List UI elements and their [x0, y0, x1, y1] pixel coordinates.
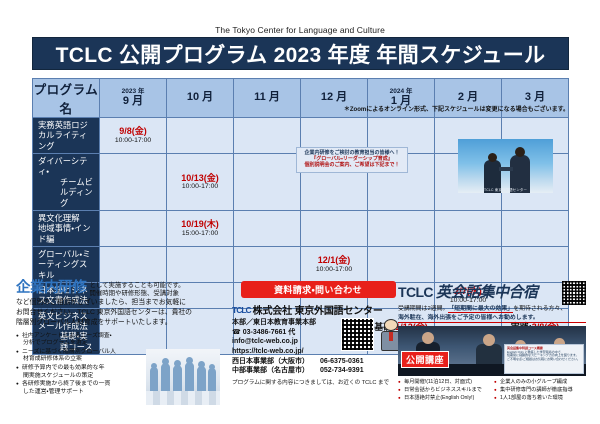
list-item: 日本語絶対禁止(English Only!): [398, 395, 490, 403]
camp-lead-1b: 「短期間に最大の効果」: [448, 306, 513, 313]
list-item: 企業人のみの小グループ編成: [494, 379, 586, 387]
callout-line-1: 企業内研修をご検討の教育担当の皆様へ！: [299, 150, 405, 156]
camp-features: 毎月開催!(11泊12日、対面式)日常会話からビジネススキルまで日本語絶対禁止(…: [398, 379, 586, 402]
session-date-value: 12/1(金): [318, 255, 351, 265]
table-row: 異文化理解 地域事情・インド編10/19(木)15:00-17:00: [33, 210, 569, 246]
schedule-cell: [368, 210, 435, 246]
photo-caption: TCLC 東京外国語センター: [460, 187, 551, 192]
corporate-heading: 企業内研修 として実施することも可能です。 開催時期や研修形態、受講対象: [16, 281, 222, 297]
session-date: 10/19(木): [167, 219, 233, 229]
qr-code-contact[interactable]: [341, 318, 374, 351]
corporate-training-panel: 企業内研修 として実施することも可能です。 開催時期や研修形態、受講対象 など個…: [16, 281, 222, 407]
table-row: グローバル・ミーティングスキル12/1(金)10:00-17:00: [33, 246, 569, 282]
schedule-cell: [234, 210, 301, 246]
main-title-bar: TCLC 公開プログラム 2023 年度 年間スケジュール: [32, 37, 569, 70]
team-head-1: [151, 363, 157, 369]
schedule-cell: [435, 210, 502, 246]
bullet-sub: 間実施スケジュールの策定: [22, 373, 140, 380]
camp-bullets-right: 企業人のみの小グループ編成集中研修専門の講師が徹底指導1人1部屋の落ち着いた環境: [494, 379, 586, 402]
list-item: 毎月開催!(11泊12日、対面式): [398, 379, 490, 387]
bullet-sub: 分析でプログラムを選定: [22, 340, 140, 347]
program-name-line-1: グローバル・ミーティングスキル: [38, 249, 91, 280]
schedule-cell: [167, 246, 234, 282]
session-date: 9/8(金): [100, 126, 166, 136]
session-date-value: 9/8(金): [119, 126, 147, 136]
month-label-11: 11 月: [234, 92, 300, 104]
program-name-cell: 実務英語ロジカルライティング: [33, 118, 100, 154]
camp-lead-1a: 受講期間は2週間。: [398, 306, 448, 312]
corporate-lead: として実施することも可能です。 開催時期や研修形態、受講対象: [90, 281, 185, 297]
bullet-main: 研修予算内での最も効果的な年: [22, 365, 104, 371]
schedule-cell: [234, 154, 301, 211]
team-figure-1: [150, 367, 158, 393]
schedule-cell: [301, 210, 368, 246]
contact-panel: 資料請求・問い合わせ TCLC 株式会社 東京外国語センター 本部／東日本教育事…: [232, 281, 404, 407]
branch-west-row: 西日本事業部（大阪市） 06-6375-0361: [232, 357, 404, 367]
session-time: 15:00-17:00: [167, 230, 233, 238]
team-head-3: [174, 360, 181, 367]
branch-central-phone: 052-734-9391: [320, 366, 364, 376]
list-item: 社内アンケートによるニーズ調査・分析でプログラムを選定: [16, 333, 140, 348]
contact-details: 本部／東日本教育事業本部 03-3486-7661 代 info@tclc-we…: [232, 318, 404, 376]
callout-line-3: 個別説明会のご案内、ご希望は下記まで！: [299, 162, 405, 168]
organization-subtitle: The Tokyo Center for Language and Cultur…: [0, 25, 600, 35]
team-figure-2: [161, 363, 170, 393]
session-date: 10/13(金): [167, 173, 233, 183]
flyer-page: The Tokyo Center for Language and Cultur…: [0, 0, 600, 424]
team-head-5: [198, 361, 205, 368]
list-item: 集中研修専門の講師が徹底指導: [494, 387, 586, 395]
schedule-cell: [502, 246, 569, 282]
schedule-cell: [435, 246, 502, 282]
session-time: 10:00-17:00: [167, 183, 233, 191]
schedule-cell: [368, 246, 435, 282]
inquiry-banner-label: 資料請求・問い合わせ: [274, 283, 362, 296]
camp-panel: TCLC 英会話集中合宿 受講期間は2週間。「短期間に最大の効果」を期待される方…: [398, 281, 586, 407]
schedule-cell: [100, 246, 167, 282]
month-label-10: 10 月: [167, 92, 233, 104]
schedule-cell: 12/1(金)10:00-17:00: [301, 246, 368, 282]
list-item: 1人1部屋の落ち着いた環境: [494, 395, 586, 403]
corporate-lead-line-2: 開催時期や研修形態、受講対象: [90, 290, 185, 298]
team-photo: [146, 349, 220, 405]
camp-lead: 受講期間は2週間。「短期間に最大の効果」を期待される方々、 海外駐在、海外出張を…: [398, 305, 586, 323]
schedule-cell: [167, 118, 234, 154]
company-name: 株式会社 東京外国語センター: [253, 302, 383, 317]
team-figure-4: [185, 362, 194, 393]
corporate-bullet-list: 社内アンケートによるニーズ調査・分析でプログラムを選定ニーズに基づく階層別グロー…: [16, 333, 140, 397]
schedule-cell: 9/8(金)10:00-17:00: [100, 118, 167, 154]
program-name-line-1: 異文化理解 地域事情・インド編: [38, 213, 91, 244]
month-label-2: 2 月: [435, 92, 501, 104]
session-date: 12/1(金): [301, 255, 367, 265]
team-head-6: [209, 364, 215, 370]
team-head-4: [186, 357, 193, 364]
schedule-cell: [100, 210, 167, 246]
schedule-note: ＊Zoomによるオンライン形式、下記スケジュールは変更になる場合もございます。: [32, 104, 569, 113]
callout-line-2: 『グローバル・リーダーシップ育成』: [299, 156, 405, 162]
camp-lead-line-2: 海外駐在、海外出張をご予定の皆様へお勧めします。: [398, 314, 586, 324]
list-item: ニーズに基づく階層別グローバル人材育成研修体系の立案: [16, 349, 140, 364]
session-time: 10:00-17:00: [100, 137, 166, 145]
branch-west-label: 西日本事業部（大阪市）: [232, 357, 320, 367]
camp-inset-note: 英会話集中特訓コース概要 English Only に徹底した学習環境の中で、 …: [504, 344, 584, 374]
branch-central-label: 中部事業部（名古屋市）: [232, 366, 320, 376]
list-item: 各研修実施から終了後までの一貫した運営・管理サポート: [16, 381, 140, 396]
camp-bullets-left: 毎月開催!(11泊12日、対面式)日常会話からビジネススキルまで日本語絶対禁止(…: [398, 379, 490, 402]
camp-heading: TCLC 英会話集中合宿: [398, 281, 586, 302]
camp-lead-1c: を期待される方々、: [513, 306, 566, 312]
program-name-cell: グローバル・ミーティングスキル: [33, 246, 100, 282]
handshake-photo: TCLC 東京外国語センター: [458, 139, 553, 193]
camp-brand: TCLC: [398, 284, 433, 300]
camp-inset-line-3: ご不明な点・ご相談はお気軽にお問い合わせください。: [507, 358, 581, 362]
month-label-12: 12 月: [301, 92, 367, 104]
schedule-cell: [234, 118, 301, 154]
mascot-head: [384, 319, 398, 331]
bullet-sub: した運営・管理サポート: [22, 389, 140, 396]
list-item: 日常会話からビジネススキルまで: [398, 387, 490, 395]
list-item: 研修予算内での最も効果的な年間実施スケジュールの策定: [16, 365, 140, 380]
program-name-line-1: 実務英語ロジカルライティング: [38, 120, 88, 151]
bullet-main: 社内アンケートによるニーズ調査・: [22, 333, 112, 339]
schedule-cell: [502, 210, 569, 246]
corporate-body: など個別のご相談がございましたら、担当までお気軽に お問合せください。TCLC …: [16, 298, 222, 328]
schedule-cell: 10/13(金)10:00-17:00: [167, 154, 234, 211]
camp-classroom-photo: 公開講座 英会話集中特訓コース概要 English Only に徹底した学習環境…: [398, 326, 586, 376]
inquiry-banner[interactable]: 資料請求・問い合わせ: [241, 281, 396, 298]
camp-lead-line-1: 受講期間は2週間。「短期間に最大の効果」を期待される方々、: [398, 305, 586, 314]
team-figure-6: [208, 368, 216, 393]
program-name-cell: ダイバーシティ・チームビルディング: [33, 154, 100, 211]
branch-west-phone: 06-6375-0361: [320, 357, 364, 367]
session-date-value: 10/19(木): [181, 219, 219, 229]
photo-person-right-head: [515, 147, 525, 157]
camp-title: 英会話集中合宿: [436, 281, 538, 302]
mascot-tie: [389, 332, 393, 341]
qr-code-camp[interactable]: [562, 281, 586, 305]
team-figure-5: [197, 366, 206, 393]
company-line: TCLC 株式会社 東京外国語センター: [232, 302, 404, 317]
page-title: TCLC 公開プログラム 2023 年度 年間スケジュール: [56, 39, 546, 69]
team-head-2: [162, 358, 169, 365]
tclc-logo-mark: TCLC: [232, 305, 251, 315]
schedule-cell: [234, 246, 301, 282]
photo-person-left-head: [488, 153, 497, 162]
bullet-sub: 材育成研修体系の立案: [22, 356, 140, 363]
bullet-main: ニーズに基づく階層別グローバル人: [22, 349, 116, 355]
program-name-line-2: チームビルディング: [38, 177, 94, 208]
open-course-badge: 公開講座: [401, 351, 449, 368]
program-name-cell: 異文化理解 地域事情・インド編: [33, 210, 100, 246]
corporate-seminar-callout: 企業内研修をご検討の教育担当の皆様へ！ 『グローバル・リーダーシップ育成』 個別…: [296, 147, 408, 173]
schedule-cell: [100, 154, 167, 211]
program-name-line-1: ダイバーシティ・: [38, 156, 87, 176]
team-figure-3: [173, 365, 182, 393]
photo-handshake-arm: [499, 167, 513, 171]
branch-central-row: 中部事業部（名古屋市） 052-734-9391: [232, 366, 404, 376]
hq-phone-number: 03-3486-7661 代: [243, 329, 296, 336]
month-label-3: 3 月: [502, 92, 568, 104]
contact-footnote: プログラムに関する内容につきましては、お近くの TCLC まで: [232, 378, 404, 386]
bullet-main: 各研修実施から終了後までの一貫: [22, 381, 110, 387]
phone-icon: [232, 329, 243, 336]
session-date-value: 10/13(金): [181, 173, 219, 183]
team-photo-floor: [146, 391, 220, 405]
session-time: 10:00-17:00: [301, 266, 367, 274]
schedule-cell: 10/19(木)15:00-17:00: [167, 210, 234, 246]
corporate-title: 企業内研修: [16, 281, 87, 296]
corporate-lead-line-1: として実施することも可能です。: [90, 282, 185, 290]
